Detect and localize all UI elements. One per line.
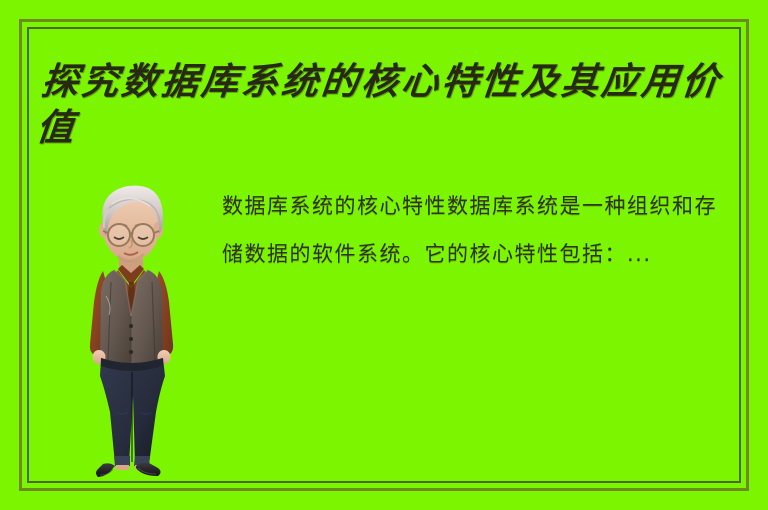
cartoon-man-illustration — [70, 176, 192, 478]
poster-canvas: 探究数据库系统的核心特性及其应用价值 数据库系统的核心特性数据库系统是一种组织和… — [0, 0, 768, 510]
page-title: 探究数据库系统的核心特性及其应用价值 — [34, 58, 734, 150]
body-paragraph: 数据库系统的核心特性数据库系统是一种组织和存储数据的软件系统。它的核心特性包括：… — [222, 182, 732, 278]
